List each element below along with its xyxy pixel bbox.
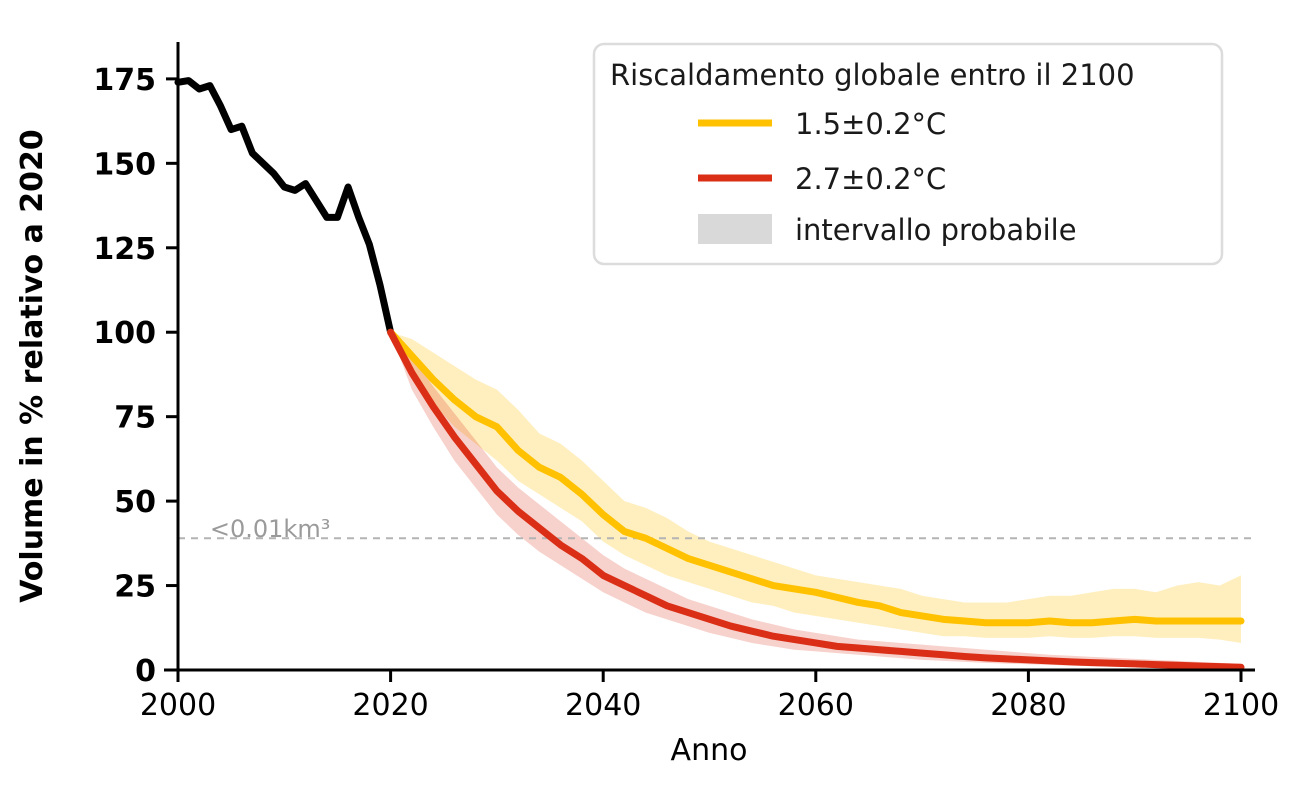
x-tick-label: 2040 — [565, 688, 641, 723]
x-tick-label: 2100 — [1203, 688, 1279, 723]
threshold-line-group: <0.01km³ — [178, 515, 1255, 543]
y-axis-ticks: 0255075100125150175 — [93, 63, 178, 689]
y-tick-label: 0 — [135, 654, 156, 689]
legend-label-high-warming: 2.7±0.2°C — [795, 162, 946, 196]
x-tick-label: 2080 — [990, 688, 1066, 723]
chart-legend[interactable]: Riscaldamento globale entro il 2100 1.5±… — [594, 44, 1222, 264]
threshold-annotation-label: <0.01km³ — [210, 515, 330, 543]
x-tick-label: 2020 — [352, 688, 428, 723]
y-tick-label: 25 — [114, 570, 156, 605]
series-line-historical — [178, 81, 391, 333]
glacier-volume-projection-chart: <0.01km³ 200020202040206020802100 025507… — [0, 0, 1300, 800]
x-tick-label: 2060 — [778, 688, 854, 723]
y-tick-label: 125 — [93, 232, 156, 267]
chart-figure: <0.01km³ 200020202040206020802100 025507… — [0, 0, 1300, 800]
band-low-warming — [391, 332, 1241, 643]
y-tick-label: 100 — [93, 316, 156, 351]
legend-title: Riscaldamento globale entro il 2100 — [610, 58, 1135, 92]
legend-label-low-warming: 1.5±0.2°C — [795, 107, 946, 141]
x-tick-label: 2000 — [140, 688, 216, 723]
y-tick-label: 175 — [93, 63, 156, 98]
x-axis-label: Anno — [671, 733, 748, 768]
y-axis-label: Volume in % relativo a 2020 — [15, 129, 50, 603]
y-tick-label: 150 — [93, 147, 156, 182]
legend-swatch-likely-range — [698, 214, 772, 244]
y-tick-label: 50 — [114, 485, 156, 520]
legend-label-likely-range: intervallo probabile — [795, 213, 1077, 247]
x-axis-ticks: 200020202040206020802100 — [140, 670, 1279, 723]
y-tick-label: 75 — [114, 401, 156, 436]
